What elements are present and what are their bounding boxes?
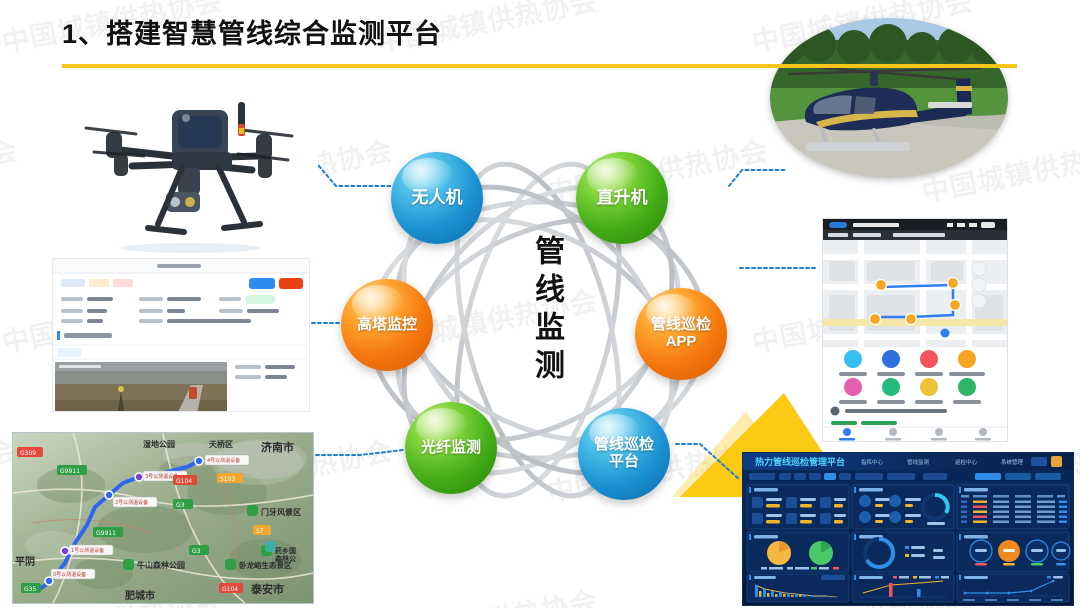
svg-text:天桥区: 天桥区: [209, 439, 233, 449]
diagram-node-inspection-app[interactable]: 管线巡检 APP: [635, 288, 727, 380]
svg-text:S7: S7: [256, 528, 264, 535]
svg-text:2号以测温设备: 2号以测温设备: [115, 499, 148, 506]
photo-bi-dashboard: 热力管线巡检管理平台 指挥中心 管线监测 巡检中心 系统管理: [742, 452, 1074, 606]
svg-text:卧龙峪生态景区: 卧龙峪生态景区: [239, 560, 292, 570]
diagram-node-inspection-platform[interactable]: 管线巡检 平台: [578, 408, 670, 500]
svg-text:指挥中心: 指挥中心: [861, 458, 884, 466]
photo-tower-console: [52, 258, 310, 412]
svg-text:济南市: 济南市: [261, 440, 294, 454]
svg-text:热力管线巡检管理平台: 热力管线巡检管理平台: [755, 456, 845, 468]
svg-text:平阴: 平阴: [15, 556, 35, 568]
photo-inspection-app: [822, 218, 1008, 442]
pipeline-monitoring-diagram: 无人机 直升机 高塔监控 管线巡检 APP 光纤监测 管线巡检 平台 管线监测: [333, 140, 743, 530]
diagram-node-fiber-monitoring-label: 光纤监测: [417, 440, 485, 457]
diagram-center-label: 管线监测: [513, 235, 561, 387]
svg-text:G35: G35: [24, 586, 36, 593]
svg-text:G309: G309: [20, 450, 36, 457]
svg-text:门牙风景区: 门牙风景区: [261, 507, 301, 517]
svg-text:药乡国: 药乡国: [275, 546, 296, 555]
diagram-node-tower-monitoring[interactable]: 高塔监控: [341, 279, 433, 371]
pipeline-map-illustration: 4号以测温设备 3号以测温设备 2号以测温设备 1号以测温设备 0号以测温设备 …: [13, 433, 313, 603]
photo-helicopter: [770, 18, 1008, 178]
inspection-app-illustration: [823, 219, 1007, 441]
diagram-node-inspection-app-label: 管线巡检 APP: [647, 317, 715, 351]
photo-drone: [62, 82, 318, 260]
diagram-node-uav[interactable]: 无人机: [391, 152, 483, 244]
page-title: 1、搭建智慧管线综合监测平台: [62, 12, 442, 51]
diagram-node-inspection-platform-label: 管线巡检 平台: [590, 437, 658, 471]
svg-text:S103: S103: [220, 476, 235, 483]
svg-text:泰安市: 泰安市: [250, 582, 284, 596]
photo-pipeline-map: 4号以测温设备 3号以测温设备 2号以测温设备 1号以测温设备 0号以测温设备 …: [12, 432, 314, 604]
svg-text:G9911: G9911: [60, 468, 80, 475]
svg-text:1号以测温设备: 1号以测温设备: [71, 547, 104, 554]
svg-text:G9911: G9911: [96, 530, 116, 537]
svg-text:系统管理: 系统管理: [1001, 458, 1024, 466]
svg-text:湿地公园: 湿地公园: [143, 439, 175, 449]
diagram-node-fiber-monitoring[interactable]: 光纤监测: [405, 402, 497, 494]
svg-text:巡检中心: 巡检中心: [955, 458, 978, 466]
svg-text:4号以测温设备: 4号以测温设备: [207, 457, 240, 464]
svg-text:G3: G3: [176, 502, 185, 509]
svg-text:肥城市: 肥城市: [125, 589, 155, 602]
diagram-node-tower-monitoring-label: 高塔监控: [353, 317, 421, 334]
svg-text:管线监测: 管线监测: [907, 458, 930, 466]
svg-text:G104: G104: [176, 478, 192, 485]
svg-text:G104: G104: [222, 586, 238, 593]
diagram-node-helicopter[interactable]: 直升机: [576, 152, 668, 244]
svg-text:牛山森林公园: 牛山森林公园: [137, 560, 185, 570]
bi-dashboard-illustration: 热力管线巡检管理平台 指挥中心 管线监测 巡检中心 系统管理: [743, 453, 1073, 605]
tower-console-illustration: [53, 259, 309, 411]
title-underline-rule: [62, 64, 1017, 68]
drone-illustration: [62, 82, 318, 260]
helicopter-illustration: [770, 18, 1008, 178]
svg-text:0号以测温设备: 0号以测温设备: [53, 571, 86, 578]
diagram-node-helicopter-label: 直升机: [593, 188, 652, 207]
svg-text:G3: G3: [192, 548, 201, 555]
diagram-node-uav-label: 无人机: [408, 188, 467, 207]
